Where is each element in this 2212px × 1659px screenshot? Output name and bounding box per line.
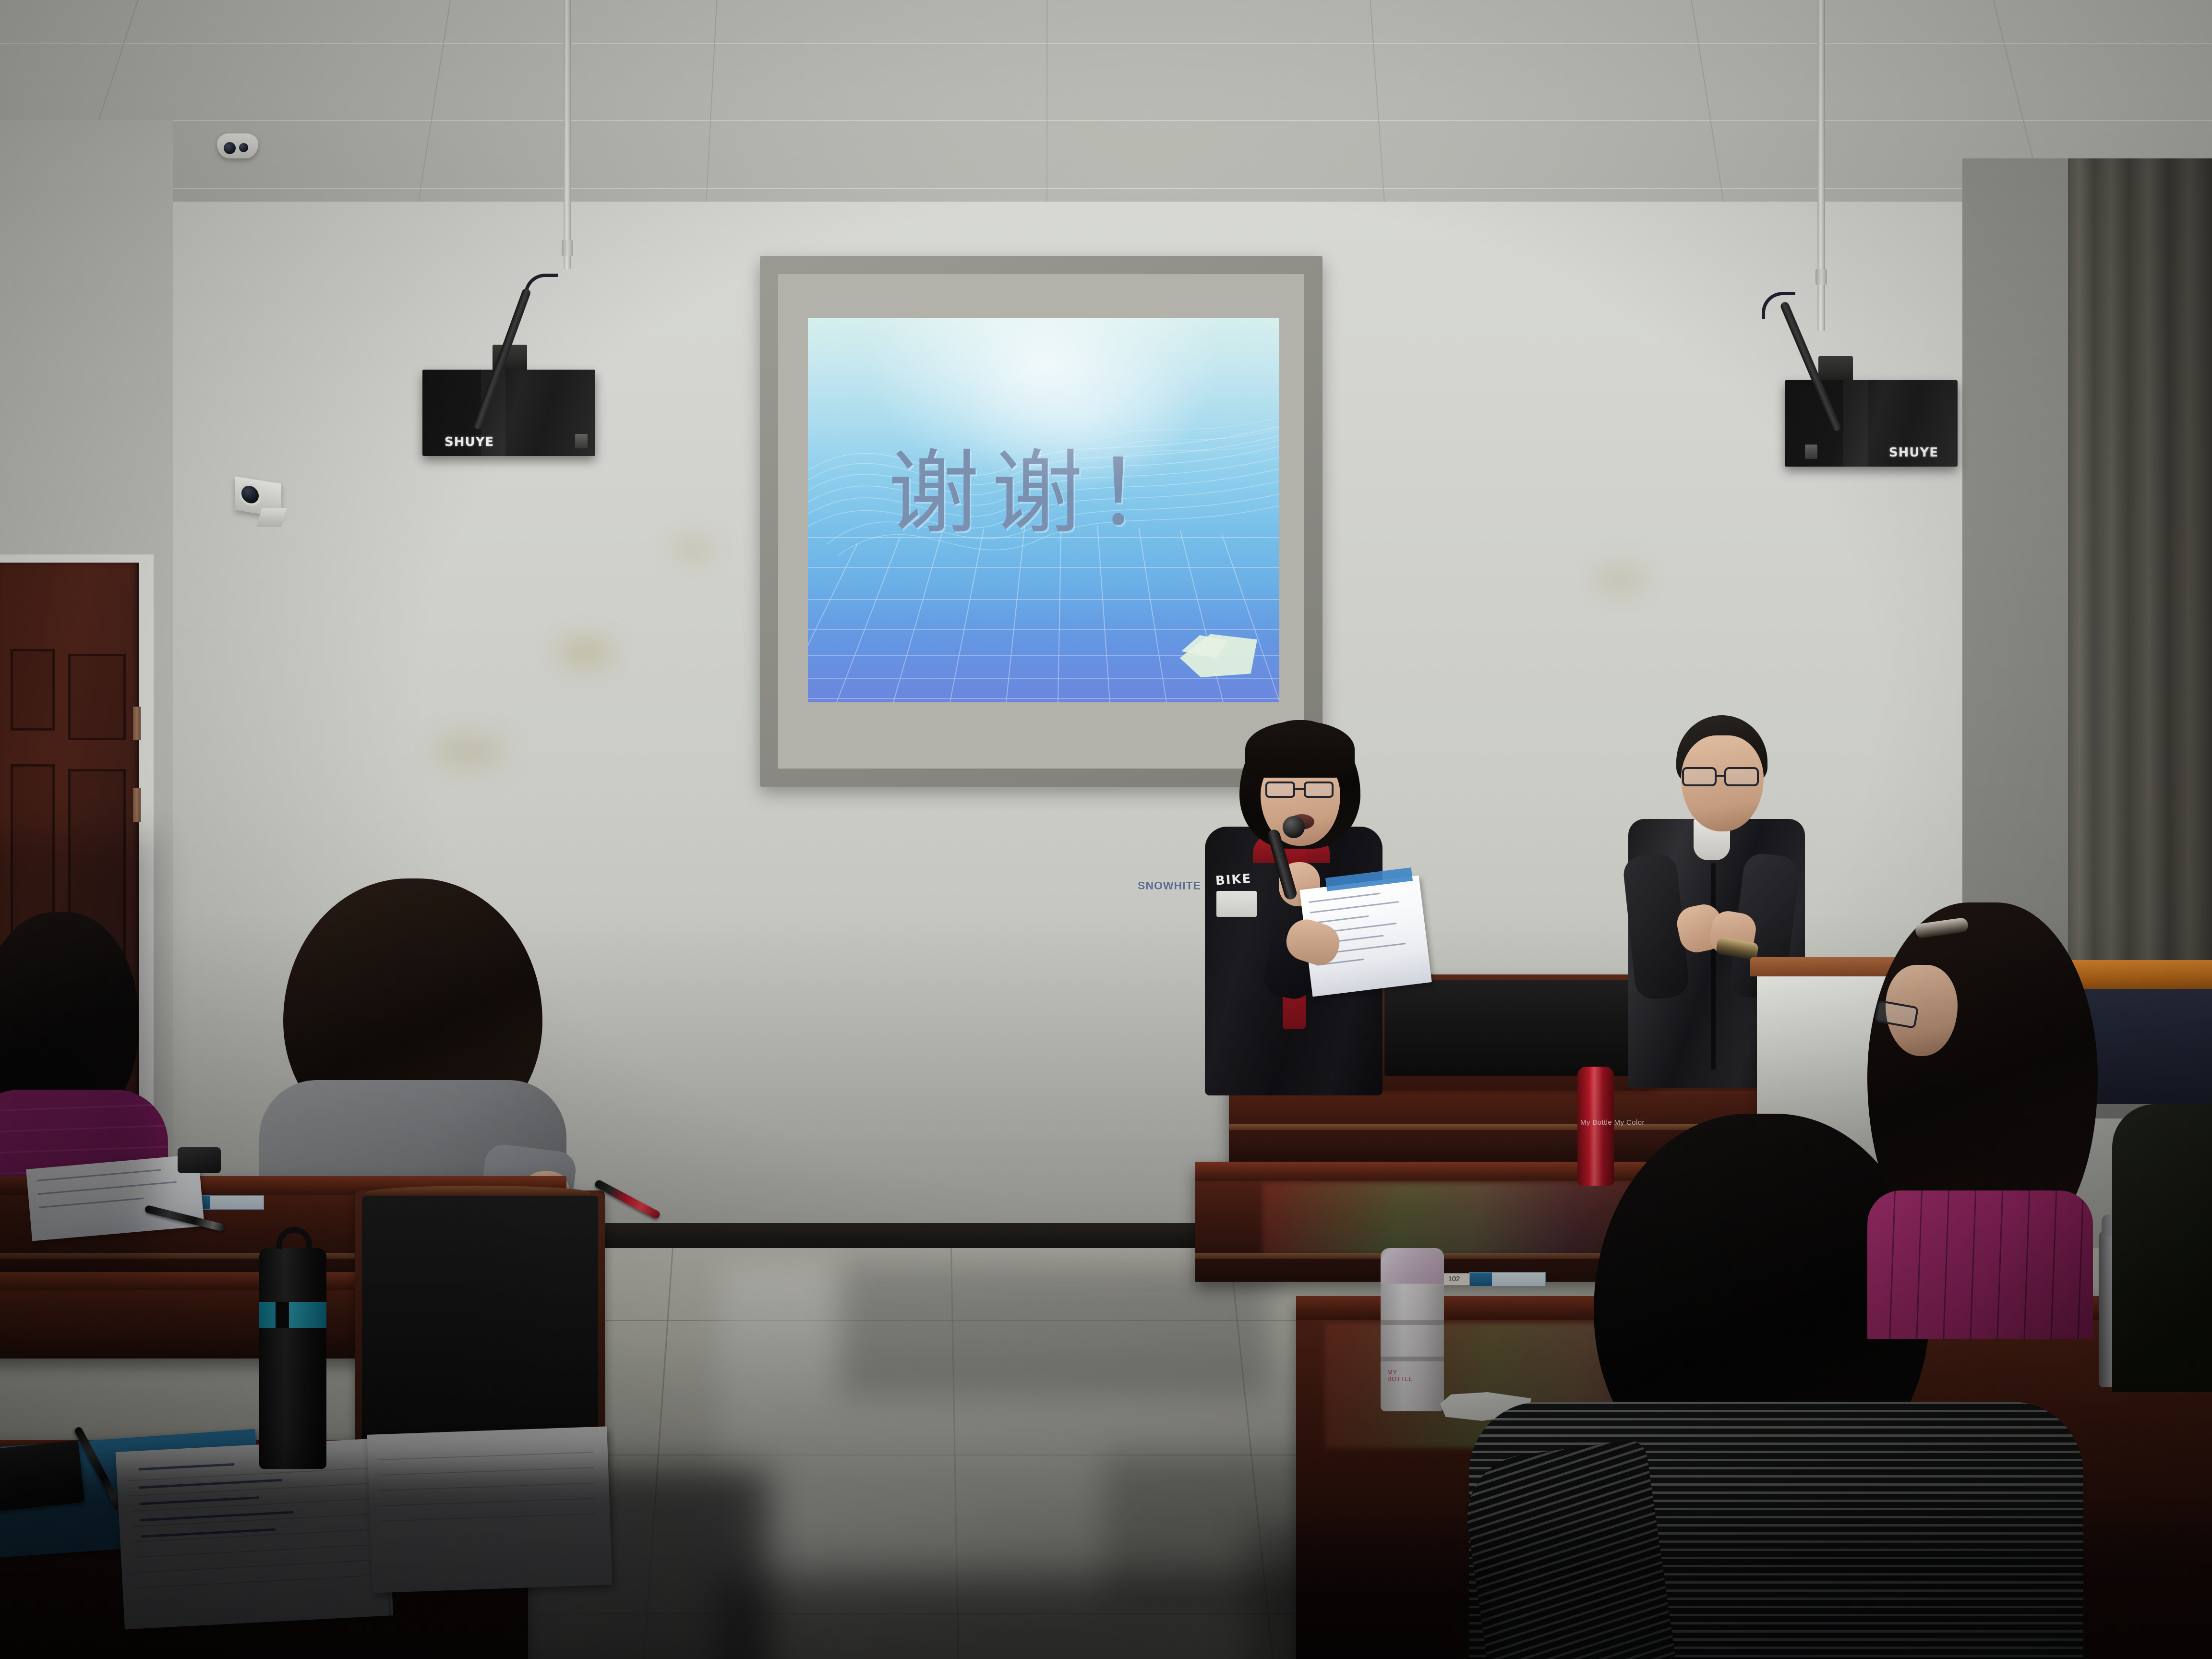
wall-smudge (1594, 566, 1647, 592)
open-notebook-right-page[interactable] (367, 1426, 612, 1593)
presenter-jacket-brand: BIKE (1215, 871, 1252, 888)
official-glasses (1682, 767, 1717, 786)
black-teal-thermos[interactable] (259, 1248, 326, 1469)
white-pink-thermos[interactable]: MYBOTTLE (1381, 1248, 1444, 1411)
presenter-fringe (1245, 721, 1355, 778)
ceiling-speaker-left: SHUYE (422, 370, 595, 456)
pipe-joint-left (562, 240, 573, 256)
ceiling-pipe-left (564, 0, 571, 269)
microphone-head-icon (1283, 816, 1305, 838)
pink-blazer-jacket (1867, 1190, 2093, 1339)
projected-slide: 谢谢！ (808, 318, 1279, 702)
mobile-phone[interactable] (0, 1440, 84, 1512)
wall-smudge (432, 734, 504, 768)
whiteboard-brand-label: SNOWHITE (1138, 879, 1201, 892)
ceiling-speaker-right: SHUYE (1785, 380, 1958, 467)
magenta-person-hair (0, 912, 139, 1114)
knit-sweater-arm (1459, 1438, 1675, 1659)
dome-camera-icon (217, 133, 258, 158)
open-notebook-left-page[interactable] (116, 1438, 394, 1630)
presenter-glasses-bridge (1294, 788, 1305, 790)
wall-smudge (557, 638, 614, 667)
classroom-scene: SHUYE SHUYE (0, 0, 2212, 1659)
wall-smudge (672, 538, 715, 560)
small-dark-object (178, 1147, 221, 1173)
slide-headline: 谢谢！ (808, 449, 1279, 540)
official-glasses-right (1724, 767, 1759, 786)
official-jacket-seam (1711, 863, 1716, 1070)
presenter-glasses-right (1304, 781, 1334, 798)
pipe-joint-right (1815, 269, 1827, 285)
person-pink-blazer (1834, 902, 2131, 1334)
presenter-chair[interactable] (1378, 974, 1656, 1085)
ceiling (0, 0, 2212, 226)
person-far-right (2112, 1104, 2212, 1392)
pink-blazer-hair (1867, 902, 2098, 1238)
presenter-glasses (1265, 781, 1295, 798)
official-glasses-bridge (1715, 775, 1726, 777)
presenter-jacket-patch (1216, 891, 1257, 917)
